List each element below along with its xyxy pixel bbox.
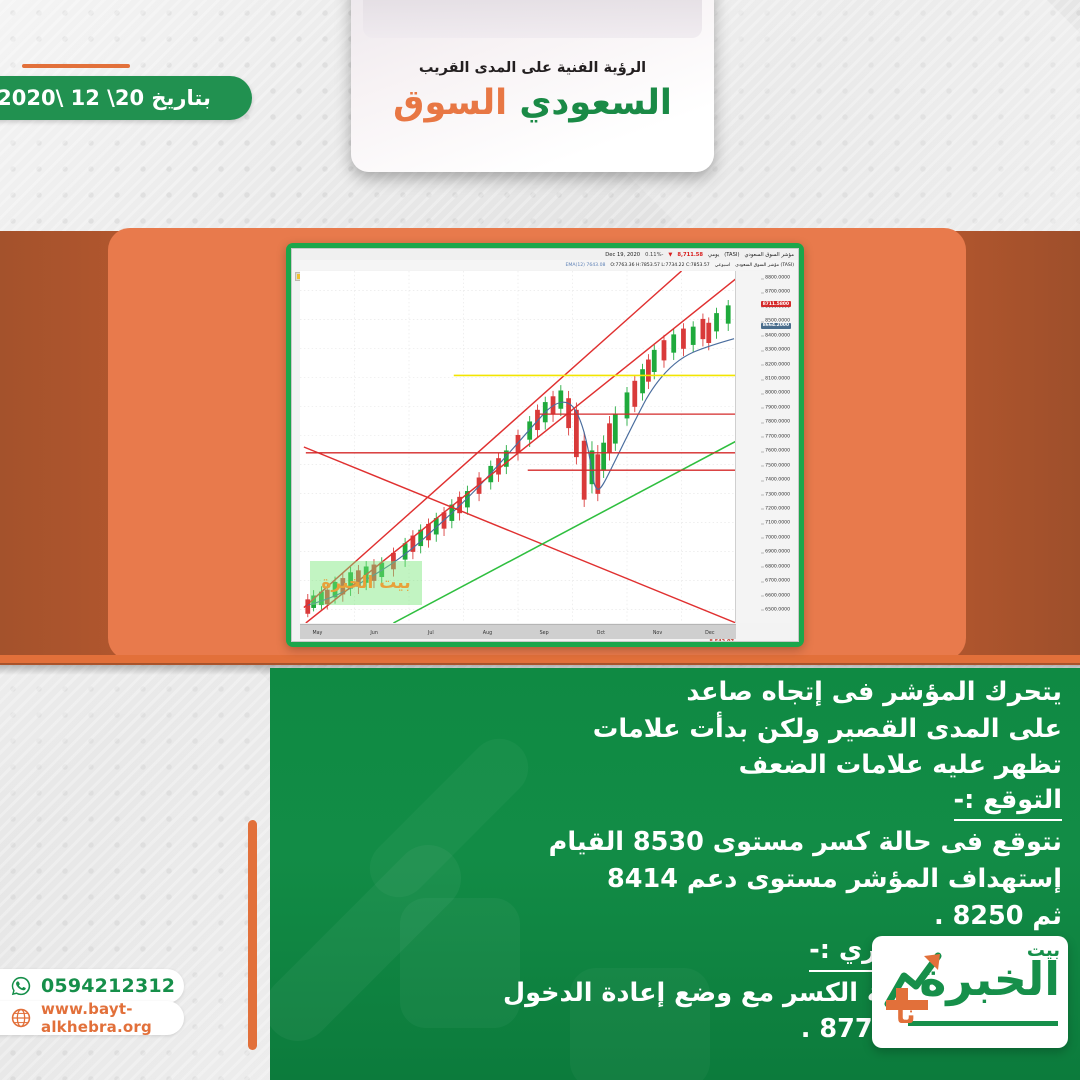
y-tick: 8400.0000 (765, 333, 790, 338)
y-tick: 7800.0000 (765, 420, 790, 425)
y-tick: 7200.0000 (765, 506, 790, 511)
y-tick: 6500.0000 (765, 607, 790, 612)
chart-ema-label: EMA(12) 7643.08 (566, 263, 606, 268)
brand-logo[interactable]: بيت الخبرة نا (872, 936, 1068, 1048)
y-tick: 6700.0000 (765, 579, 790, 584)
analysis-line: على المدى القصير ولكن بدأت علامات (302, 711, 1062, 748)
chart-ohlc-values: O:7763.36 H:7853.57 L:7734.22 C:7853.57 (610, 263, 709, 268)
logo-underline (908, 1021, 1058, 1026)
chart-symbol-name: مؤشر السوق السعودي (744, 252, 794, 258)
x-tick: Nov (653, 631, 662, 636)
y-tick: 8700.0000 (765, 290, 790, 295)
y-tick: 7600.0000 (765, 449, 790, 454)
analysis-line: تظهر عليه علامات الضعف (302, 747, 1062, 784)
globe-icon (10, 1007, 32, 1029)
trendline-green-support (393, 441, 736, 623)
forecast-heading-wrap: التوقع :- (302, 784, 1062, 824)
y-tick: 7300.0000 (765, 492, 790, 497)
chart-ohlc-timeframe: اسبوعي (715, 263, 730, 268)
price-tag-last: 8711.5800 (761, 301, 791, 307)
trendline-rising-upper (304, 271, 682, 608)
date-underline (22, 64, 130, 68)
title-card: الرؤية الفنية على المدى القريب السعودي ا… (351, 0, 714, 172)
chart-quote-date: Dec 19, 2020 (605, 252, 640, 258)
forecast-heading: التوقع :- (954, 784, 1063, 821)
page-title-word-2: السعودي (519, 83, 672, 123)
contact-website-url: www.bayt-alkhebra.org (41, 1000, 184, 1036)
chart-watermark: بيت الخبرة (310, 561, 422, 605)
chart-date-axis[interactable]: May Jun Jul Aug Sep Oct Nov Dec (300, 624, 736, 639)
chart-last-price: 8,711.58 (677, 252, 703, 258)
y-tick: 7000.0000 (765, 535, 790, 540)
chart-change-percent: -0.11% (645, 252, 663, 258)
y-tick: 6800.0000 (765, 564, 790, 569)
level-label-8542: 8,542.07 (709, 639, 734, 642)
chart-plot-area[interactable]: بيت الخبرة (300, 271, 736, 623)
y-tick: 8200.0000 (765, 362, 790, 367)
y-tick: 8000.0000 (765, 391, 790, 396)
y-tick: 7900.0000 (765, 405, 790, 410)
forecast-line: إستهداف المؤشر مستوى دعم 8414 (302, 861, 1062, 898)
chart-symbol-code: (TASI) (724, 252, 739, 258)
chart-timeframe: يومي (708, 252, 719, 258)
y-tick: 8800.0000 (765, 276, 790, 281)
analysis-line: يتحرك المؤشر فى إتجاه صاعد (302, 674, 1062, 711)
x-tick: Aug (483, 631, 492, 636)
poster-canvas: بتاريخ 20\ 12 \2020 الرؤية الفنية على ال… (0, 0, 1080, 1080)
x-tick: Sep (540, 631, 549, 636)
contact-phone[interactable]: 0594212312 (0, 969, 184, 1003)
x-tick: Dec (705, 631, 714, 636)
page-title: السعودي السوق (351, 83, 714, 124)
chart-change-arrow-icon: ▼ (668, 252, 672, 258)
x-tick: Jul (428, 631, 434, 636)
date-badge-label: بتاريخ 20\ 12 \2020 (0, 86, 225, 110)
page-title-word-1: السوق (393, 83, 507, 123)
whatsapp-icon (10, 975, 32, 997)
x-tick: May (312, 631, 322, 636)
date-badge: بتاريخ 20\ 12 \2020 (0, 76, 252, 120)
page-subtitle: الرؤية الفنية على المدى القريب (351, 60, 714, 76)
y-tick: 7500.0000 (765, 463, 790, 468)
chart-ohlc-symbol: (TASI) مؤشر السوق السعودي (735, 263, 794, 268)
contact-website[interactable]: www.bayt-alkhebra.org (0, 1001, 184, 1035)
logo-word-khebra: الخبرة (919, 956, 1060, 1002)
y-tick: 6900.0000 (765, 550, 790, 555)
y-tick: 7400.0000 (765, 478, 790, 483)
y-tick: 7700.0000 (765, 434, 790, 439)
chart-frame: مؤشر السوق السعودي (TASI) يومي 8,711.58 … (286, 243, 804, 647)
x-tick: Oct (597, 631, 605, 636)
panel-orange-accent-bar (248, 820, 257, 1050)
forecast-line: نتوقع فى حالة كسر مستوى 8530 القيام (302, 824, 1062, 861)
y-tick: 8100.0000 (765, 377, 790, 382)
y-tick: 6600.0000 (765, 593, 790, 598)
price-tag-ema: 8664.2000 (761, 323, 791, 329)
logo-arabic-text: بيت الخبرة (919, 942, 1060, 1002)
logo-suffix: نا (896, 1000, 916, 1030)
chart-ohlc-bar: (TASI) مؤشر السوق السعودي اسبوعي O:7763.… (292, 260, 798, 270)
chart-widget[interactable]: مؤشر السوق السعودي (TASI) يومي 8,711.58 … (291, 248, 799, 642)
chart-price-axis[interactable]: 8800.0000 8700.0000 8600.0000 8500.0000 … (735, 271, 792, 623)
chart-level-lines (306, 375, 736, 470)
title-card-sheen (363, 0, 702, 38)
x-tick: Jun (370, 631, 378, 636)
forecast-line: ثم 8250 . (302, 898, 1062, 935)
y-tick: 8300.0000 (765, 348, 790, 353)
y-tick: 7100.0000 (765, 521, 790, 526)
contact-phone-number: 0594212312 (41, 975, 175, 997)
